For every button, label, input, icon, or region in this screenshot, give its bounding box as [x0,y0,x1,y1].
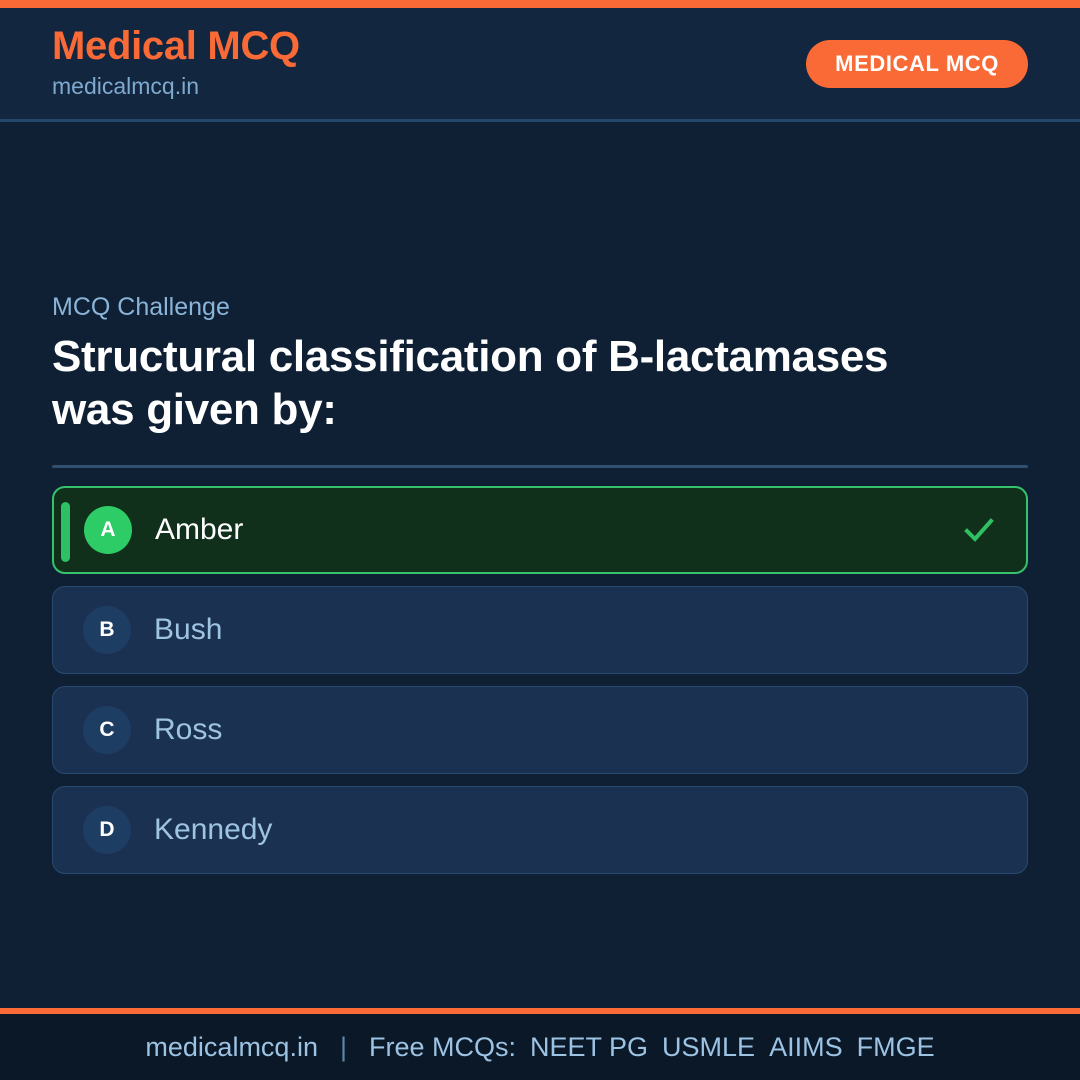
top-accent-bar [0,0,1080,8]
brand-block: Medical MCQ medicalmcq.in [52,25,300,101]
option-b-letter: B [83,606,131,654]
option-c[interactable]: C Ross [52,686,1028,774]
footer-label: Free MCQs: [369,1032,516,1063]
footer-exam-neet-pg: NEET PG [530,1032,648,1063]
options-list: A Amber B Bush C Ross D Kennedy [52,486,1028,874]
option-a[interactable]: A Amber [52,486,1028,574]
question-divider [52,465,1028,468]
option-b[interactable]: B Bush [52,586,1028,674]
check-icon [962,513,996,547]
option-a-label: Amber [155,513,962,546]
footer-exam-aiims: AIIMS [769,1032,843,1063]
option-d-letter: D [83,806,131,854]
option-c-letter: C [83,706,131,754]
brand-title: Medical MCQ [52,25,300,68]
footer-exam-fmge: FMGE [857,1032,935,1063]
question-kicker: MCQ Challenge [52,292,1028,322]
mcq-card: Medical MCQ medicalmcq.in MEDICAL MCQ MC… [0,0,1080,1080]
option-a-letter: A [84,506,132,554]
option-d[interactable]: D Kennedy [52,786,1028,874]
option-d-label: Kennedy [154,813,997,846]
header: Medical MCQ medicalmcq.in MEDICAL MCQ [0,8,1080,122]
brand-subtitle: medicalmcq.in [52,72,300,102]
footer-exam-usmle: USMLE [662,1032,755,1063]
main-content: MCQ Challenge Structural classification … [0,122,1080,1008]
footer: medicalmcq.in | Free MCQs: NEET PG USMLE… [0,1014,1080,1080]
option-b-label: Bush [154,613,997,646]
footer-separator: | [340,1032,347,1063]
footer-text: medicalmcq.in | Free MCQs: NEET PG USMLE… [145,1032,934,1063]
question-block: MCQ Challenge Structural classification … [52,292,1028,437]
question-text: Structural classification of B-lactamase… [52,331,932,437]
footer-site: medicalmcq.in [145,1032,318,1063]
option-c-label: Ross [154,713,997,746]
brand-badge: MEDICAL MCQ [806,40,1028,88]
